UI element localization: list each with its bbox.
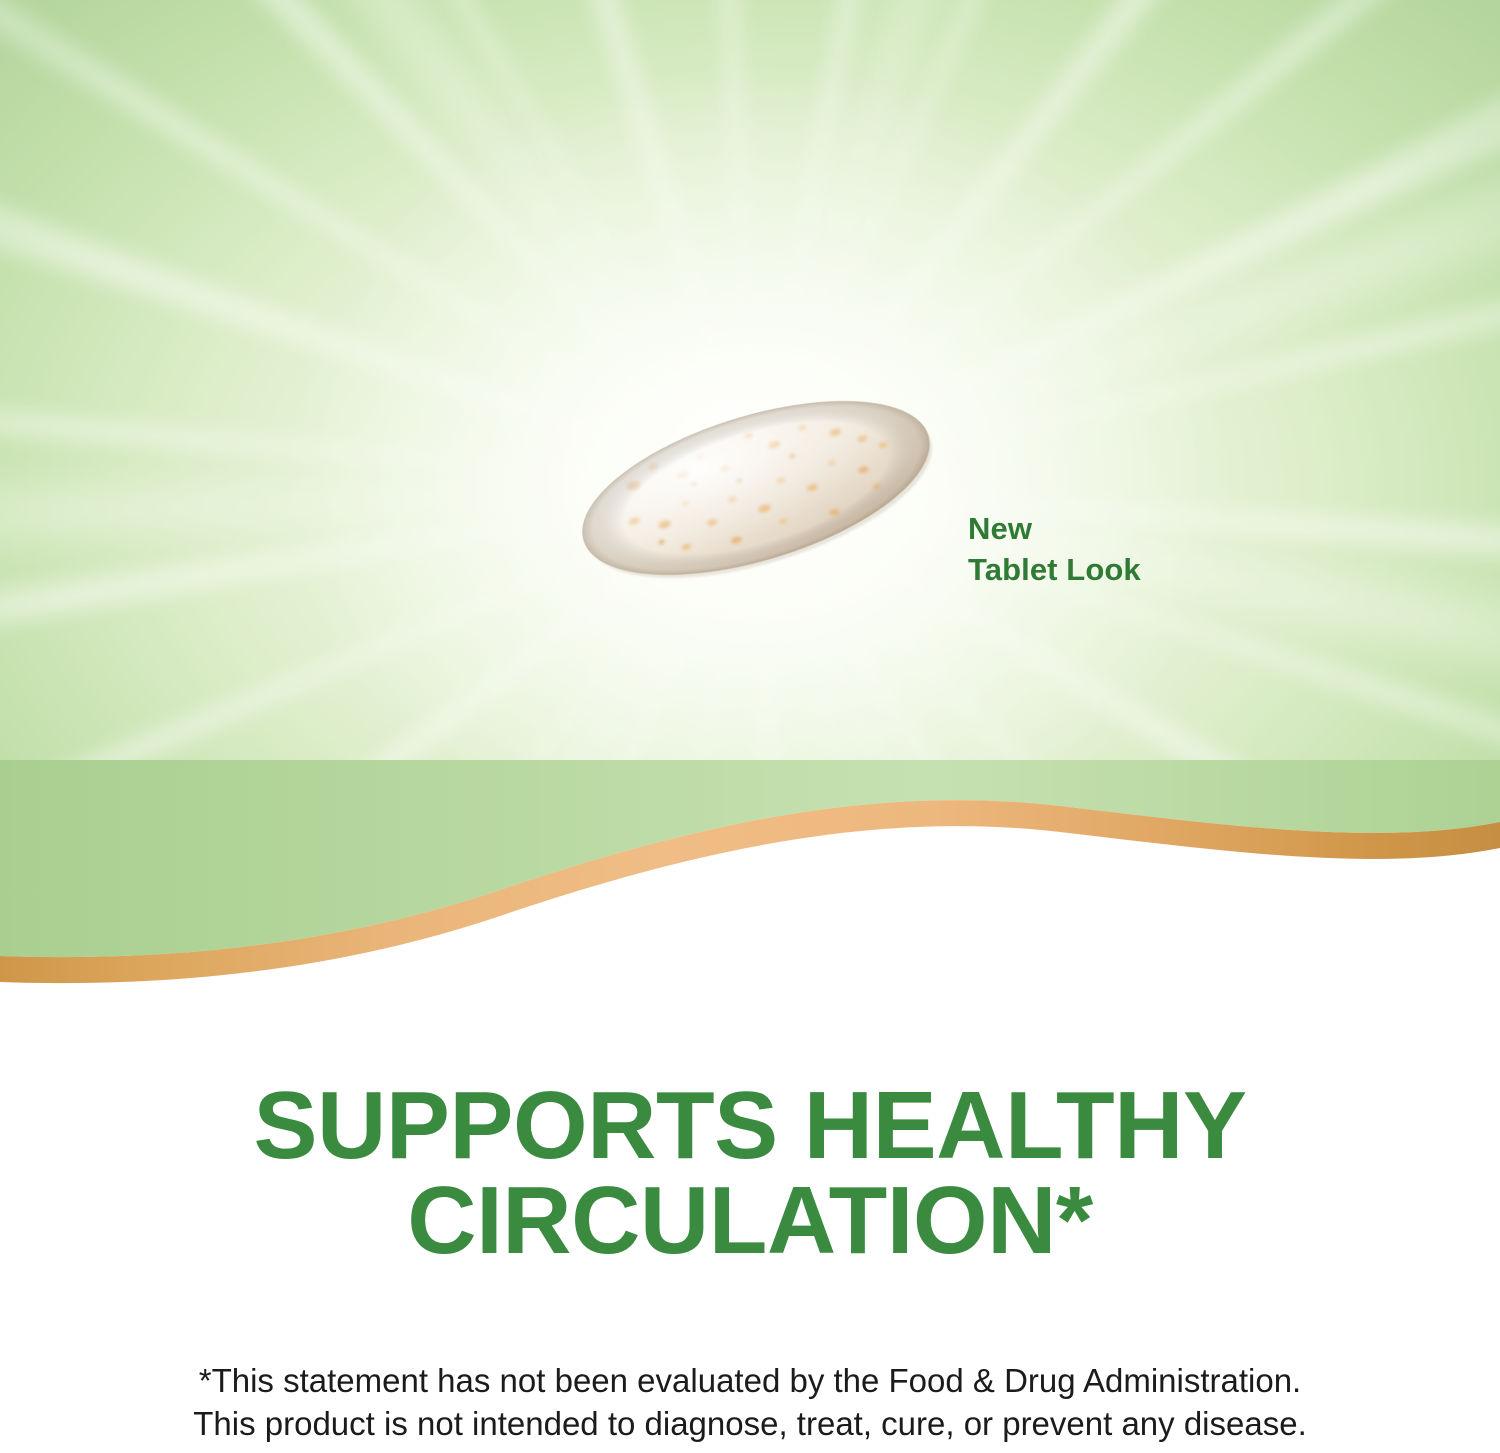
- fda-disclaimer: *This statement has not been evaluated b…: [0, 1360, 1500, 1446]
- tablet-graphic: [572, 392, 940, 584]
- disclaimer-line-1: *This statement has not been evaluated b…: [0, 1360, 1500, 1403]
- tablet-rim-shading: [572, 392, 940, 584]
- headline-line-1: SUPPORTS HEALTHY: [0, 1078, 1500, 1173]
- tablet-image: [572, 392, 940, 584]
- disclaimer-line-2: This product is not intended to diagnose…: [0, 1403, 1500, 1446]
- headline-line-2: CIRCULATION*: [0, 1173, 1500, 1268]
- new-tablet-look-label: New Tablet Look: [968, 508, 1141, 590]
- product-marketing-panel: New Tablet Look: [0, 0, 1500, 1453]
- page-title: SUPPORTS HEALTHY CIRCULATION*: [0, 1078, 1500, 1268]
